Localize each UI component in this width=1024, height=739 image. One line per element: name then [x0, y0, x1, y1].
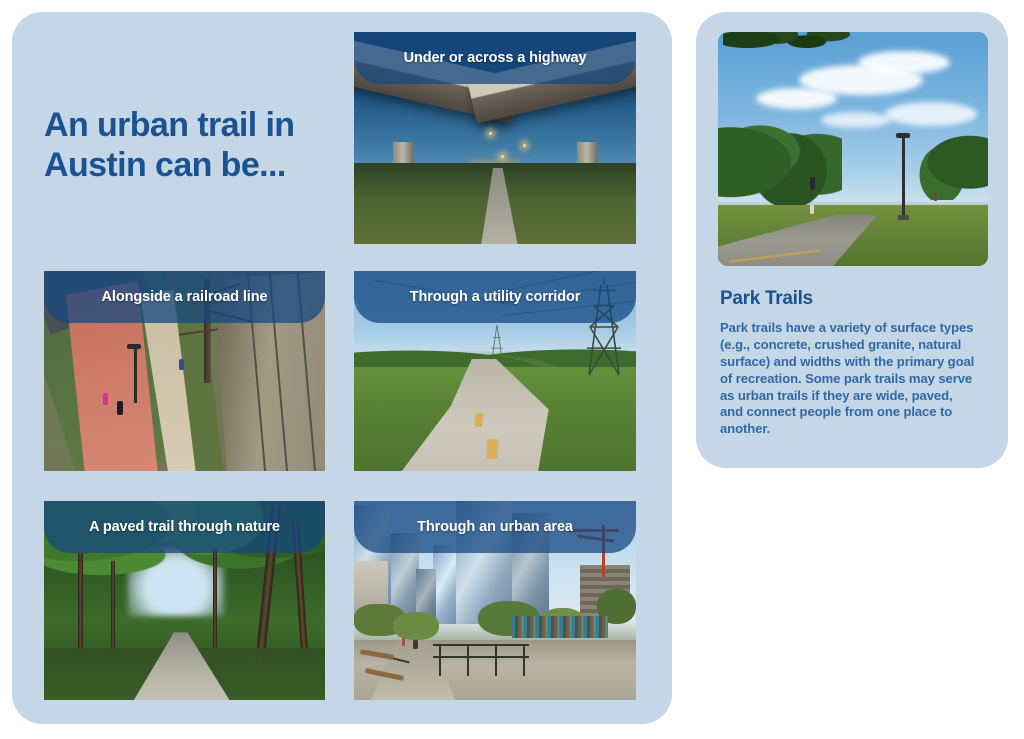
card-urban[interactable]: Through an urban area	[354, 501, 636, 700]
card-caption: Under or across a highway	[354, 32, 636, 84]
card-utility[interactable]: Through a utility corridor	[354, 271, 636, 471]
card-caption: Through an urban area	[354, 501, 636, 553]
card-railroad[interactable]: Alongside a railroad line	[44, 271, 325, 471]
card-highway[interactable]: Under or across a highway	[354, 32, 636, 244]
page-title: An urban trail in Austin can be...	[44, 105, 334, 185]
card-caption: Alongside a railroad line	[44, 271, 325, 323]
card-nature[interactable]: A paved trail through nature	[44, 501, 325, 700]
photo-park-trail	[718, 32, 988, 266]
park-trails-description: Park trails have a variety of surface ty…	[720, 320, 976, 438]
card-caption: A paved trail through nature	[44, 501, 325, 553]
card-caption: Through a utility corridor	[354, 271, 636, 323]
park-trails-heading: Park Trails	[720, 288, 813, 310]
